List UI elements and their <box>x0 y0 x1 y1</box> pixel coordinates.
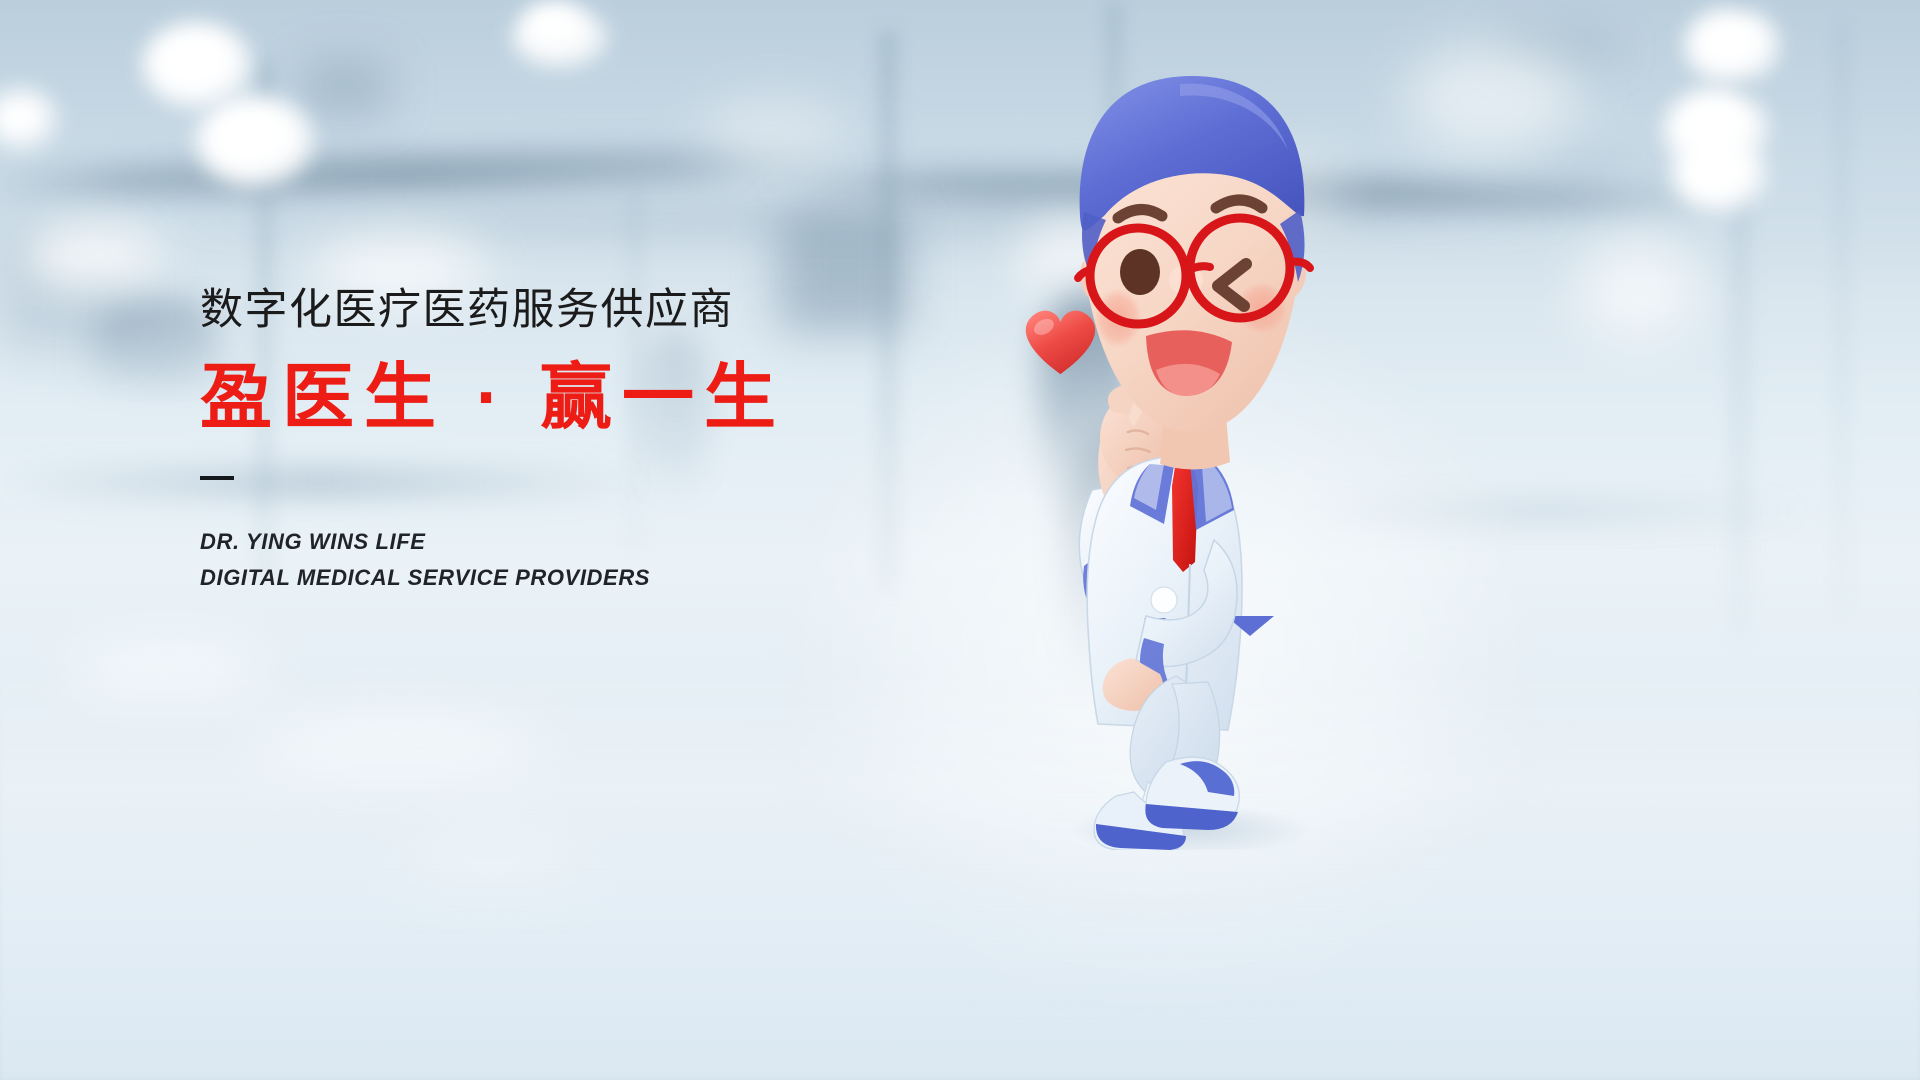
ceiling-light-bokeh <box>524 4 584 44</box>
ceiling-light-bokeh <box>1684 8 1780 84</box>
ceiling-light-bokeh <box>700 100 850 170</box>
wall-panel-blur <box>300 58 390 118</box>
heart-icon <box>1026 311 1095 374</box>
glass-mullion <box>1836 20 1848 620</box>
counter-blur <box>1470 152 1690 166</box>
ceiling-light-bokeh <box>1672 140 1766 212</box>
ceiling-light-bokeh <box>1404 44 1584 154</box>
subtitle-english-block: DR. YING WINS LIFE DIGITAL MEDICAL SERVI… <box>200 524 980 595</box>
subtitle-line-1: DR. YING WINS LIFE <box>200 524 980 560</box>
head <box>1078 76 1310 432</box>
hero-copy-block: 数字化医疗医药服务供应商 盈医生 · 赢一生 DR. YING WINS LIF… <box>200 285 980 596</box>
doctor-mascot-illustration <box>1000 40 1360 850</box>
headline-chinese: 数字化医疗医药服务供应商 <box>200 285 980 336</box>
ceiling-light-bokeh <box>142 22 252 108</box>
hero-banner: 数字化医疗医药服务供应商 盈医生 · 赢一生 DR. YING WINS LIF… <box>0 0 1920 1080</box>
glossy-floor <box>0 660 1920 1080</box>
subtitle-line-2: DIGITAL MEDICAL SERVICE PROVIDERS <box>200 560 980 596</box>
ceiling-light-bokeh <box>1576 236 1706 346</box>
ceiling-light-bokeh <box>24 222 164 292</box>
coat-button <box>1151 587 1177 613</box>
person-silhouette <box>96 296 216 386</box>
slogan-chinese: 盈医生 · 赢一生 <box>200 358 980 439</box>
eye-left <box>1120 249 1160 295</box>
divider-rule <box>200 476 234 480</box>
ceiling-light-bokeh <box>196 96 314 188</box>
